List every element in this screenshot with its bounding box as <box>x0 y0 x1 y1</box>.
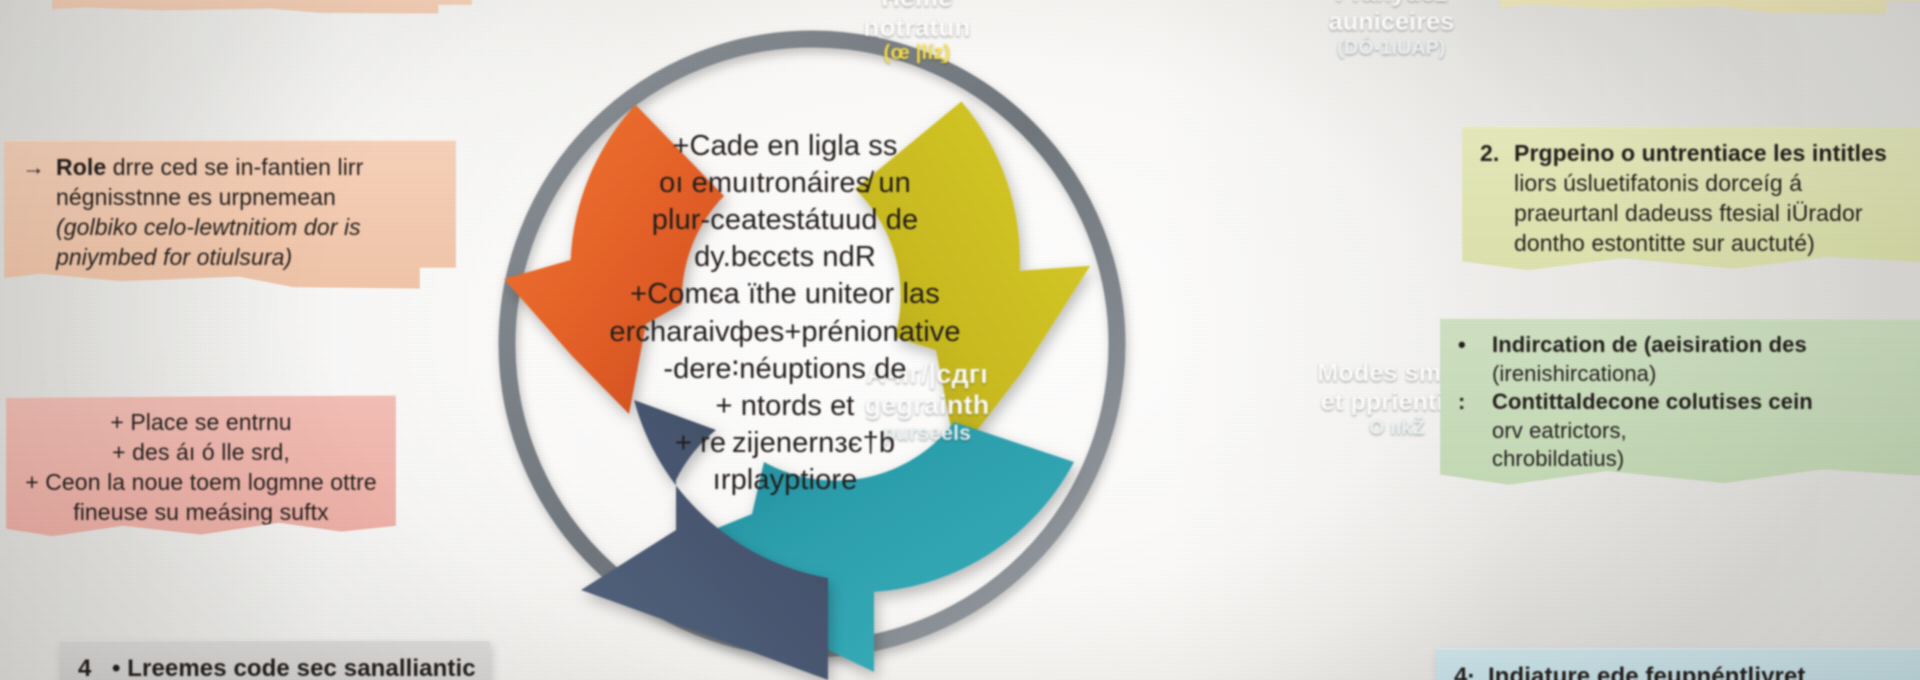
note-line: (irenishircationa) <box>1492 360 1912 389</box>
note-line: Role drre ced se in-fantien lirr <box>56 153 438 183</box>
note-green2: • Indircation de (aeisiration des (ireni… <box>1440 318 1920 490</box>
center-line: +Cade en ligla ss <box>585 128 985 165</box>
note-top-left: Port flwhloun flvesing, dunaltion <box>52 0 472 14</box>
note-green1-marker: 2. <box>1480 139 1504 259</box>
note-line: Contittaldecone colutises cein <box>1492 388 1912 417</box>
note-place: + Place se entrnu + des áı ó lle srd, + … <box>6 395 396 544</box>
note-role: → Role drre ced se in-fantien lirrnégnis… <box>4 140 456 289</box>
note-green2-marker-b: : <box>1458 388 1482 474</box>
note-line: liors úsluetifatonis dorceíg á <box>1514 169 1914 199</box>
note-line: + Place se entrnu <box>24 408 378 438</box>
cycle-label-olive: Pranyuez auniceires (DÓ-1ıUAР) <box>1284 0 1499 60</box>
note-line: dontho estontitte sur auctuté) <box>1514 229 1914 259</box>
cycle-label-orange-sub: (œ |líz̧) <box>812 42 1022 66</box>
note-role-marker: → <box>22 153 46 273</box>
note-bottom-left-marker: 4 <box>78 653 102 680</box>
note-green1: 2. Prgpeino o untrentiace les intitles l… <box>1462 126 1920 275</box>
center-text-block: +Cade en ligla ss oı emuıtronáires̸ un p… <box>585 128 985 499</box>
center-line: + ntords et <box>585 388 985 425</box>
note-green2-marker-a: • <box>1458 331 1482 388</box>
cycle-label-olive-line1: Pranyuez <box>1335 0 1448 7</box>
note-bottom-left: 4 • Lreemes code sec sanalliantic <box>60 640 490 680</box>
note-line: + Ceon la noue toem logmne ottre <box>24 468 378 498</box>
note-role-keyword: Role <box>56 154 106 180</box>
note-line: + des áı ó lle srd, <box>24 438 378 468</box>
cycle-label-olive-sub: (DÓ-1ıUAР) <box>1284 37 1499 60</box>
poster-content: Heme notratun (œ |líz̧) Pranyuez aunicei… <box>0 0 1920 680</box>
note-line: praeurtanl dadeuss ftesial iÜrador <box>1514 199 1914 229</box>
cycle-label-olive-line2: auniceires <box>1329 8 1455 36</box>
note-line: pniymbed for otiulsura) <box>56 243 438 273</box>
note-line: orv eatrictors, <box>1492 417 1912 446</box>
note-line: (golbiko celo-lewtnitiom dor is <box>56 213 438 243</box>
note-line: Prgpeino o untrentiace les intitles <box>1514 139 1914 169</box>
cycle-label-orange: Heme notratun (œ |líz̧) <box>812 0 1022 66</box>
note-line: chrobildatius) <box>1492 445 1912 474</box>
note-blue-marker: 4· <box>1454 661 1478 680</box>
center-line: ırplayptiore <box>585 462 985 499</box>
cycle-label-orange-line2: notratun <box>863 12 970 42</box>
center-line: dy.bєcєts ndR <box>585 239 985 276</box>
note-line: Indircation de (aeisiration des <box>1492 331 1912 360</box>
note-line: Indiature ede feupnéntliyret <box>1488 661 1908 680</box>
center-line: plur-ceatestátuud de <box>585 202 985 239</box>
note-top-right: des Frunt (ades lacalanenatre) dhángerti… <box>1500 0 1920 14</box>
center-line: -dere∶néuptions de <box>585 351 985 388</box>
note-line: négnisstnne es urpnemean <box>56 183 438 213</box>
note-line: fineuse su meásing suftx <box>24 498 378 528</box>
note-blue: 4· Indiature ede feupnéntliyret <box>1436 648 1920 680</box>
center-line: ercharaivфes+prénionative <box>585 314 985 351</box>
center-line: + re zijenernзє†b <box>585 425 985 462</box>
center-line: oı emuıtronáires̸ un <box>585 165 985 202</box>
center-line: +Comєa ïthe uniteor lаs <box>585 276 985 313</box>
cycle-label-orange-line1: Heme <box>881 0 953 12</box>
note-line: • Lreemes code sec sanalliantic <box>112 653 476 680</box>
